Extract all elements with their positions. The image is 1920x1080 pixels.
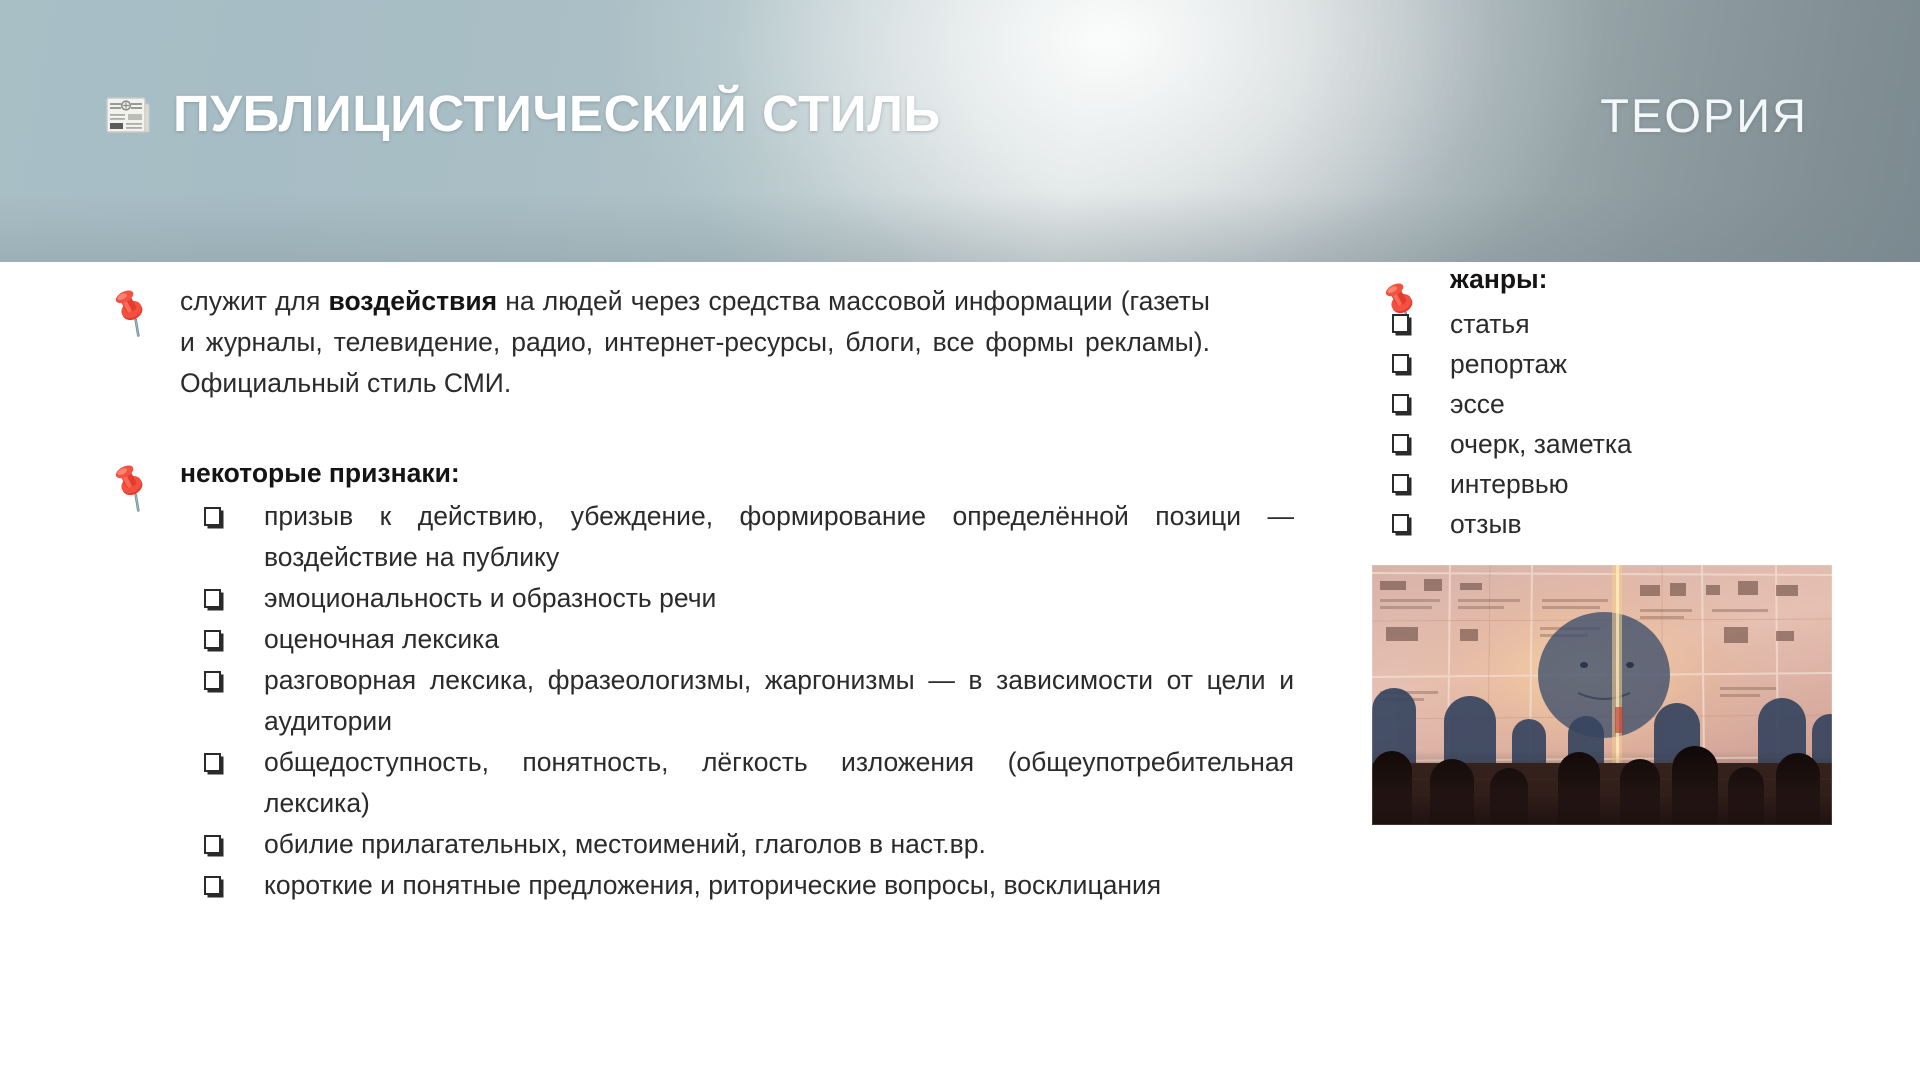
- list-item-label: репортаж: [1450, 349, 1567, 379]
- list-item: репортаж: [1372, 344, 1842, 384]
- list-item-label: эссе: [1450, 389, 1505, 419]
- header-kicker: ТЕОРИЯ: [1600, 92, 1808, 139]
- list-item-label: эмоциональность и образность речи: [264, 583, 716, 613]
- list-item-label: отзыв: [1450, 509, 1522, 539]
- left-column: служит для воздействия на людей через ср…: [102, 262, 1222, 906]
- newspaper-wall-silhouettes-photo: [1372, 565, 1832, 825]
- signs-block: некоторые признаки: призыв к действию, у…: [102, 456, 1222, 906]
- checkbox-square-icon: [1392, 354, 1409, 373]
- checkbox-square-icon: [204, 835, 221, 854]
- checkbox-square-icon: [204, 876, 221, 895]
- header-title-group: ПУБЛИЦИСТИЧЕСКИЙ СТИЛЬ: [103, 88, 941, 139]
- pushpin-icon: [102, 281, 158, 337]
- checkbox-square-icon: [1392, 314, 1409, 333]
- list-item-label: очерк, заметка: [1450, 429, 1632, 459]
- genres-list: статья репортаж эссе очерк, заметка инте…: [1372, 304, 1842, 544]
- list-item-label: оценочная лексика: [264, 624, 499, 654]
- list-item: разговорная лексика, фразеологизмы, жарг…: [180, 660, 1294, 742]
- checkbox-square-icon: [1392, 434, 1409, 453]
- checkbox-square-icon: [204, 671, 221, 690]
- checkbox-square-icon: [1392, 394, 1409, 413]
- list-item-label: общедоступность, понятность, лёгкость из…: [264, 747, 1294, 818]
- list-item: эмоциональность и образность речи: [180, 578, 1294, 619]
- right-column: жанры: статья репортаж эссе очерк, замет…: [1372, 262, 1842, 544]
- definition-text: служит для воздействия на людей через ср…: [180, 281, 1210, 404]
- signs-list: призыв к действию, убеждение, формирован…: [180, 496, 1222, 906]
- genres-heading: жанры:: [1372, 262, 1842, 296]
- header-inner: ПУБЛИЦИСТИЧЕСКИЙ СТИЛЬ ТЕОРИЯ: [0, 0, 1920, 262]
- list-item: отзыв: [1372, 504, 1842, 544]
- list-item: короткие и понятные предложения, риторич…: [180, 865, 1294, 906]
- list-item-label: короткие и понятные предложения, риторич…: [264, 870, 1161, 900]
- newspaper-icon: [103, 90, 151, 138]
- definition-emphasis: воздействия: [329, 286, 498, 316]
- list-item: очерк, заметка: [1372, 424, 1842, 464]
- definition-part1: служит для: [180, 286, 329, 316]
- list-item-label: интервью: [1450, 469, 1569, 499]
- checkbox-square-icon: [204, 589, 221, 608]
- list-item: интервью: [1372, 464, 1842, 504]
- checkbox-square-icon: [204, 507, 221, 526]
- list-item-label: обилие прилагательных, местоимений, глаг…: [264, 829, 986, 859]
- checkbox-square-icon: [204, 753, 221, 772]
- list-item-label: разговорная лексика, фразеологизмы, жарг…: [264, 665, 1294, 736]
- slide-content: служит для воздействия на людей через ср…: [0, 262, 1920, 1080]
- list-item: эссе: [1372, 384, 1842, 424]
- checkbox-square-icon: [1392, 474, 1409, 493]
- list-item-label: статья: [1450, 309, 1530, 339]
- list-item: общедоступность, понятность, лёгкость из…: [180, 742, 1294, 824]
- slide-header-banner: ПУБЛИЦИСТИЧЕСКИЙ СТИЛЬ ТЕОРИЯ: [0, 0, 1920, 262]
- checkbox-square-icon: [1392, 514, 1409, 533]
- list-item: оценочная лексика: [180, 619, 1294, 660]
- definition-block: служит для воздействия на людей через ср…: [102, 281, 1222, 404]
- signs-heading: некоторые признаки:: [180, 456, 1222, 490]
- checkbox-square-icon: [204, 630, 221, 649]
- list-item: статья: [1372, 304, 1842, 344]
- page-title: ПУБЛИЦИСТИЧЕСКИЙ СТИЛЬ: [173, 88, 941, 139]
- list-item-label: призыв к действию, убеждение, формирован…: [264, 501, 1294, 572]
- list-item: обилие прилагательных, местоимений, глаг…: [180, 824, 1294, 865]
- list-item: призыв к действию, убеждение, формирован…: [180, 496, 1294, 578]
- pushpin-icon: [102, 456, 158, 512]
